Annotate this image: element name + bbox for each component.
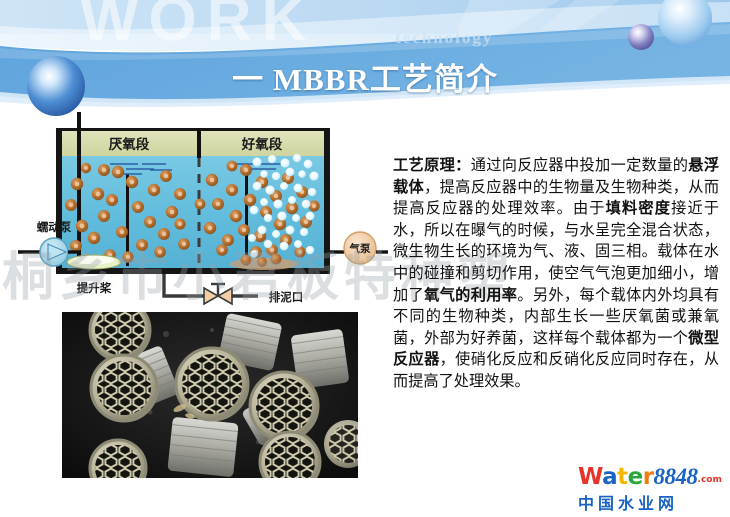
- carrier-cylinder-side-4: [167, 417, 238, 478]
- paragraph-colon: ：: [455, 156, 471, 174]
- paragraph-heading: 工艺原理: [393, 156, 455, 174]
- carrier-face-2: [91, 355, 157, 421]
- paragraph-bold-3: 氧气的利用率: [424, 286, 517, 304]
- logo-letter-r: r: [643, 464, 654, 490]
- baffle-right: [245, 174, 248, 266]
- label-anaerobic-zone: 厌氧段: [109, 136, 150, 153]
- label-peristaltic-pump: 蠕动泵: [37, 220, 72, 234]
- label-sludge-outlet: 排泥口: [269, 290, 304, 304]
- paragraph-part-1: 通过向反应器中投加一定数量的: [471, 156, 689, 174]
- label-air-pump: 气泵: [349, 242, 371, 255]
- logo-letter-w: W: [578, 464, 602, 490]
- logo-letter-a: a: [602, 464, 617, 490]
- carrier-face-5: [260, 432, 320, 478]
- shaft-center-top: [197, 128, 201, 158]
- paragraph-part-5: ，使硝化反应和反硝化反应同时存在，从而提高了处理效果。: [393, 350, 719, 390]
- tank-wall-top: [56, 128, 330, 131]
- carrier-face-3: [176, 348, 248, 420]
- carrier-face-4: [250, 372, 318, 440]
- process-principle-paragraph: 工艺原理：通过向反应器中投加一定数量的悬浮载体，提高反应器中的生物量及生物种类，…: [393, 155, 719, 393]
- label-aerobic-zone: 好氧段: [241, 136, 283, 153]
- carrier-photo-svg: [62, 312, 358, 478]
- logo-chinese-name: 中国水业网: [578, 494, 724, 514]
- logo-letter-e: e: [628, 464, 643, 490]
- paragraph-bold-2: 填料密度: [606, 199, 671, 217]
- water8848-logo[interactable]: Water8848.com 中国水业网: [578, 464, 724, 512]
- tank-wall-right: [324, 128, 330, 274]
- carrier-face-1: [90, 312, 150, 360]
- logo-number: 8848: [654, 464, 698, 489]
- page-title: 一 MBBR工艺简介: [0, 54, 730, 99]
- logo-letter-t: t: [617, 464, 628, 490]
- logo-wordmark: Water8848.com: [578, 464, 724, 493]
- sludge-outlet-piping: [164, 274, 258, 304]
- mbbr-reactor-diagram: 厌氧段 好氧段: [14, 112, 390, 310]
- label-lift-impeller: 提升桨: [77, 281, 112, 295]
- carrier-media-photo: [62, 312, 358, 478]
- logo-dotcom: .com: [698, 475, 722, 485]
- slide-root: WORK technology 一 MBBR工艺简介: [0, 0, 730, 517]
- decorative-sphere-purple: [628, 24, 654, 50]
- lift-impeller: [67, 255, 121, 269]
- reactor-schematic-svg: 厌氧段 好氧段: [14, 112, 390, 310]
